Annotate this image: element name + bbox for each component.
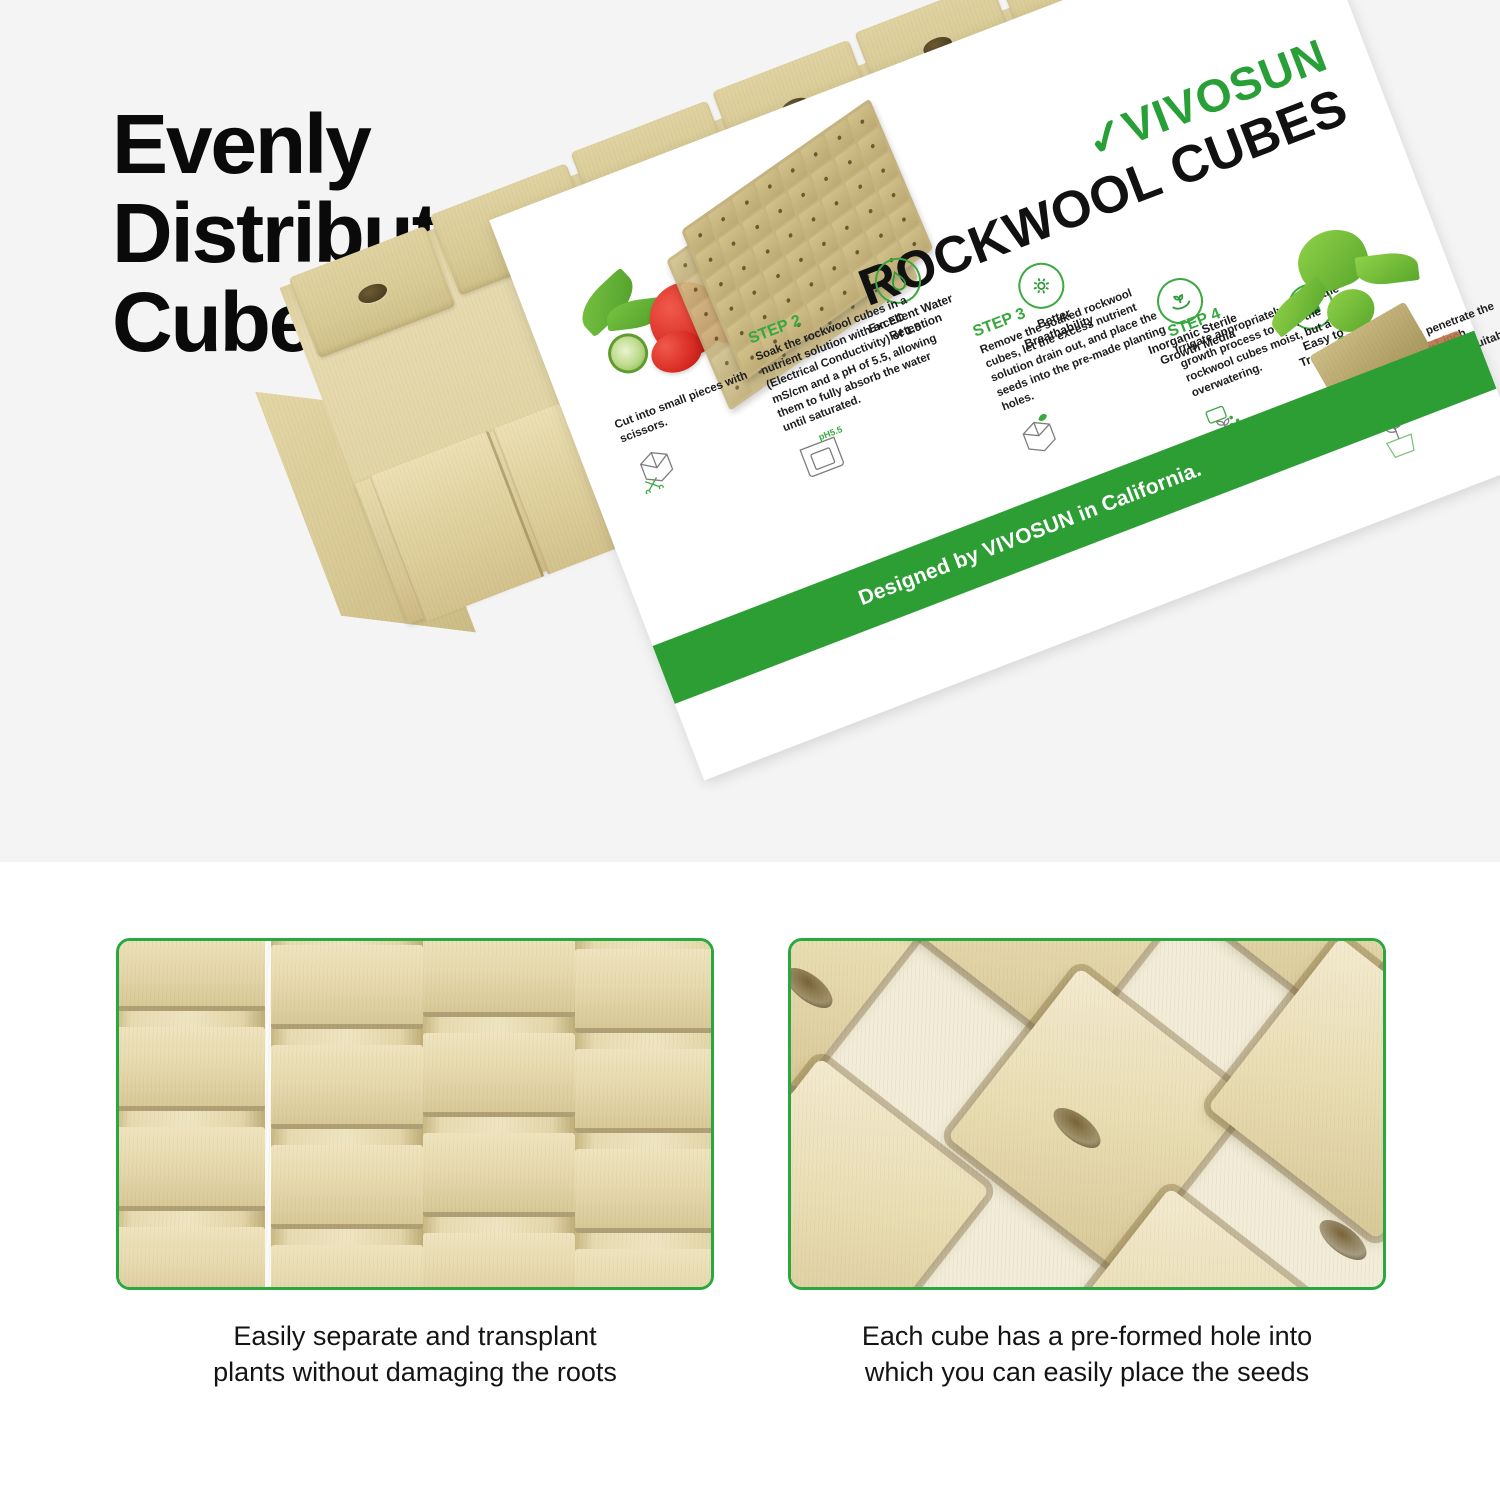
cube-closeup-caption: Each cube has a pre-formed hole into whi… — [788, 1318, 1386, 1390]
hero-section: Evenly Distributed Cubes — [0, 0, 1500, 862]
caption-line: Easily separate and transplant — [116, 1318, 714, 1354]
cube-grid-caption: Easily separate and transplant plants wi… — [116, 1318, 714, 1390]
caption-line: Each cube has a pre-formed hole into — [788, 1318, 1386, 1354]
svg-text:pH5.5: pH5.5 — [817, 424, 843, 442]
caption-line: plants without damaging the roots — [116, 1354, 714, 1390]
cube-grid-photo — [116, 938, 714, 1290]
designed-by-text: Designed by VIVOSUN in California. — [659, 458, 1204, 686]
cube-closeup-photo — [788, 938, 1386, 1290]
product-label: ✓VIVOSUN ROCKWOOL CUBES Excel — [489, 0, 1500, 780]
caption-line: which you can easily place the seeds — [788, 1354, 1386, 1390]
product-tray: ✓VIVOSUN ROCKWOOL CUBES Excel — [330, 120, 1500, 862]
